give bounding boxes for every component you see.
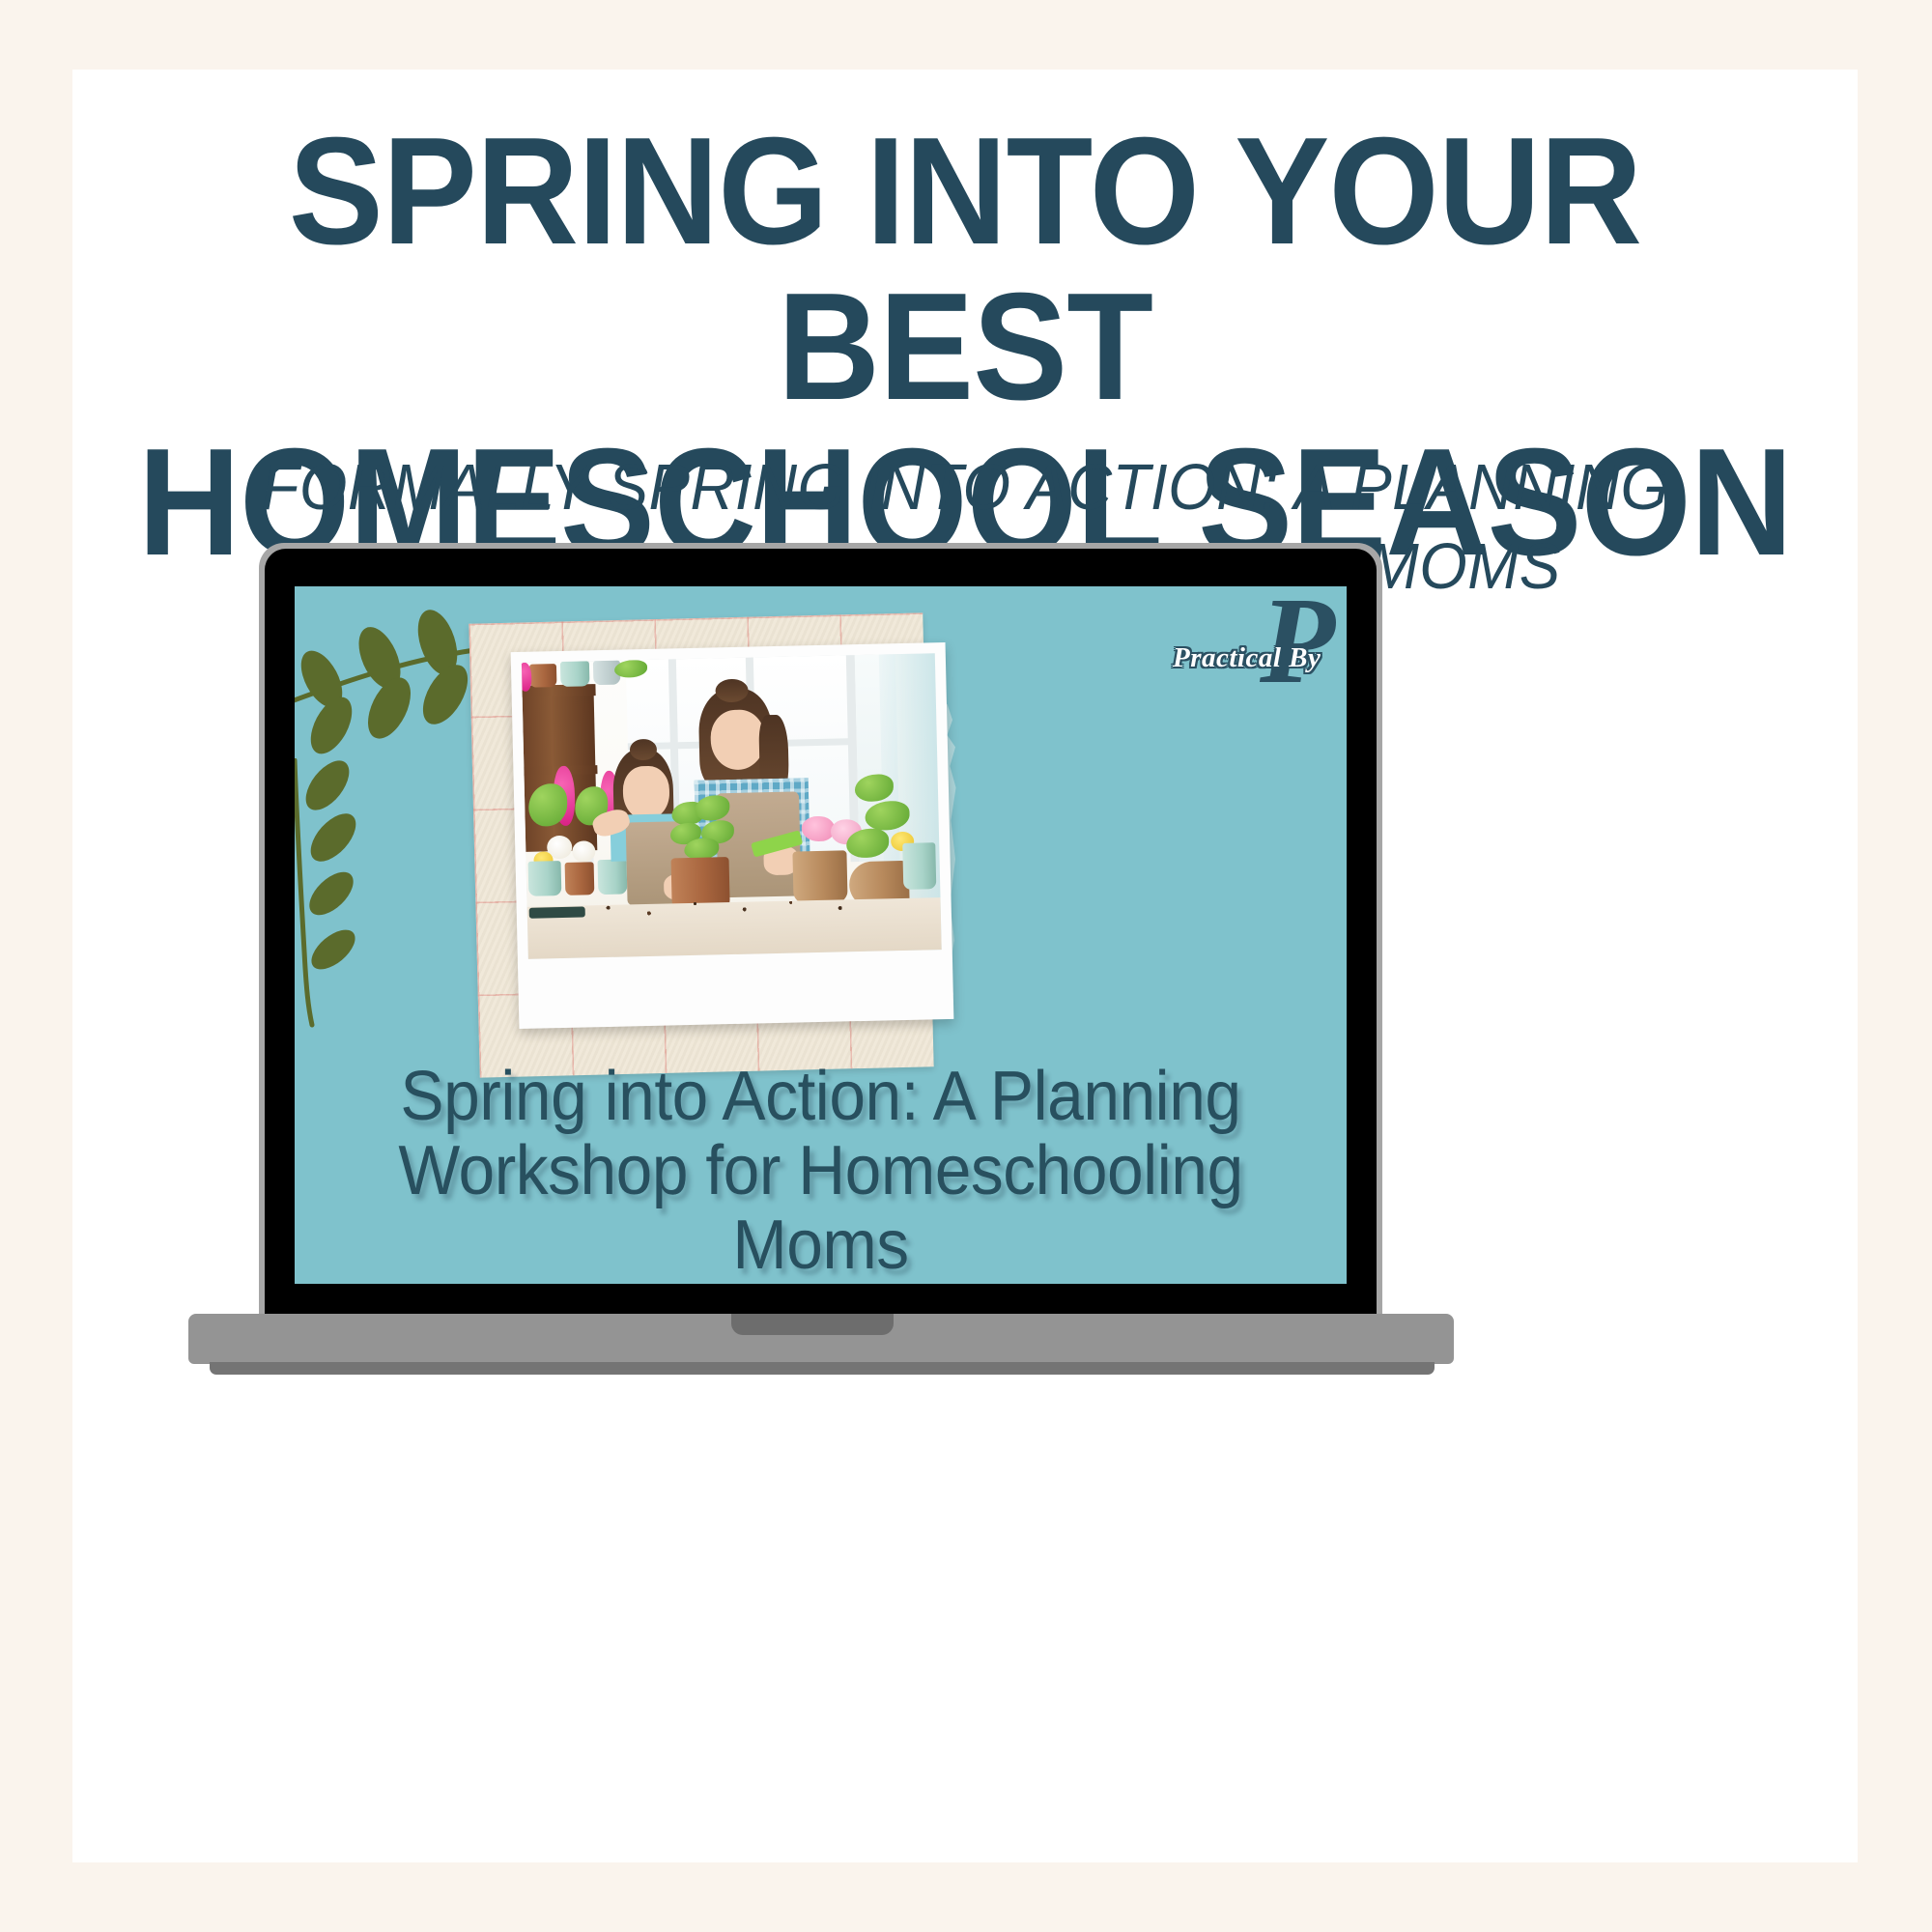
logo-monogram: P xyxy=(1260,588,1335,695)
laptop-screen: P Practical By xyxy=(295,586,1347,1284)
slide-title: Spring into Action: A Planning Workshop … xyxy=(348,1060,1293,1283)
laptop-mockup: P Practical By xyxy=(188,543,1744,1441)
workshop-photo xyxy=(522,653,942,959)
laptop-base-notch xyxy=(731,1314,894,1335)
brand-logo: P Practical By xyxy=(1167,588,1347,695)
logo-wordmark: Practical By xyxy=(1173,642,1321,674)
polaroid-frame xyxy=(511,642,954,1029)
white-card: SPRING INTO YOUR BEST HOMESCHOOL SEASON … xyxy=(72,70,1858,1862)
poster-canvas: SPRING INTO YOUR BEST HOMESCHOOL SEASON … xyxy=(0,0,1932,1932)
laptop-base-lip xyxy=(210,1362,1435,1375)
botanical-branch-secondary-icon xyxy=(295,758,399,1034)
